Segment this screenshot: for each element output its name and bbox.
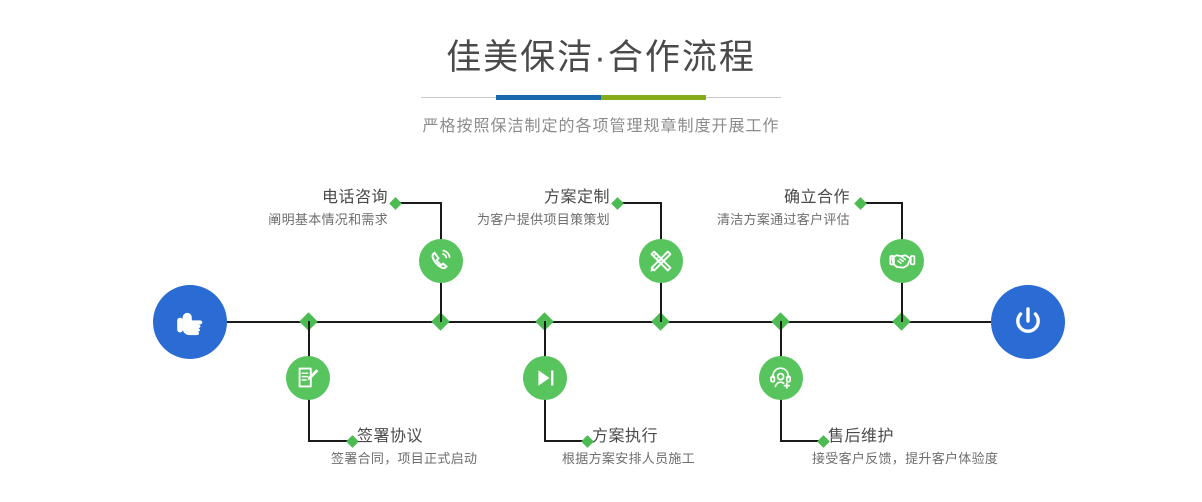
step-desc-4: 根据方案安排人员施工 [562, 450, 852, 468]
end-endpoint[interactable] [991, 285, 1065, 359]
title-divider [421, 93, 781, 103]
step-title-5: 确立合作 [600, 188, 850, 208]
start-endpoint[interactable] [153, 285, 227, 359]
handshake-icon [889, 248, 916, 275]
play-execute-icon [532, 365, 558, 391]
step-icon-1-phone-call[interactable] [419, 239, 463, 283]
page-subtitle: 严格按照保洁制定的各项管理规章制度开展工作 [0, 103, 1202, 136]
step-icon-3-pencil-ruler[interactable] [639, 239, 683, 283]
step-title-4: 方案执行 [592, 427, 852, 447]
label-marker-5 [854, 197, 867, 210]
step-icon-6-customer-service[interactable] [759, 356, 803, 400]
divider-segment-green [601, 95, 706, 100]
step-desc-1: 阐明基本情况和需求 [140, 211, 388, 229]
step-desc-6: 接受客户反馈，提升客户体验度 [812, 450, 1108, 468]
step-desc-5: 清洁方案通过客户评估 [600, 211, 850, 229]
step-label-5: 确立合作 清洁方案通过客户评估 [600, 188, 850, 229]
divider-segment-blue [496, 95, 601, 100]
step-title-3: 方案定制 [362, 188, 610, 208]
pencil-ruler-icon [648, 248, 674, 274]
power-icon [1008, 302, 1048, 342]
step-title-2: 签署协议 [357, 427, 617, 447]
header: 佳美保洁·合作流程 严格按照保洁制定的各项管理规章制度开展工作 [0, 0, 1202, 136]
step-icon-5-handshake[interactable] [880, 239, 924, 283]
customer-service-icon [768, 365, 794, 391]
step-label-1: 电话咨询 阐明基本情况和需求 [140, 188, 388, 229]
page-title: 佳美保洁·合作流程 [0, 0, 1202, 80]
flowchart-canvas: 佳美保洁·合作流程 严格按照保洁制定的各项管理规章制度开展工作 [0, 0, 1202, 502]
step-icon-2-document-edit[interactable] [286, 356, 330, 400]
connector-horizontal-2 [308, 440, 351, 442]
document-edit-icon [295, 365, 321, 391]
step-title-1: 电话咨询 [140, 188, 388, 208]
step-label-3: 方案定制 为客户提供项目策策划 [362, 188, 610, 229]
step-title-6: 售后维护 [828, 427, 1108, 447]
step-label-6: 售后维护 接受客户反馈，提升客户体验度 [828, 427, 1108, 468]
pointing-hand-icon [171, 303, 209, 341]
phone-call-icon [428, 248, 454, 274]
step-desc-3: 为客户提供项目策策划 [362, 211, 610, 229]
step-icon-4-play-execute[interactable] [523, 356, 567, 400]
